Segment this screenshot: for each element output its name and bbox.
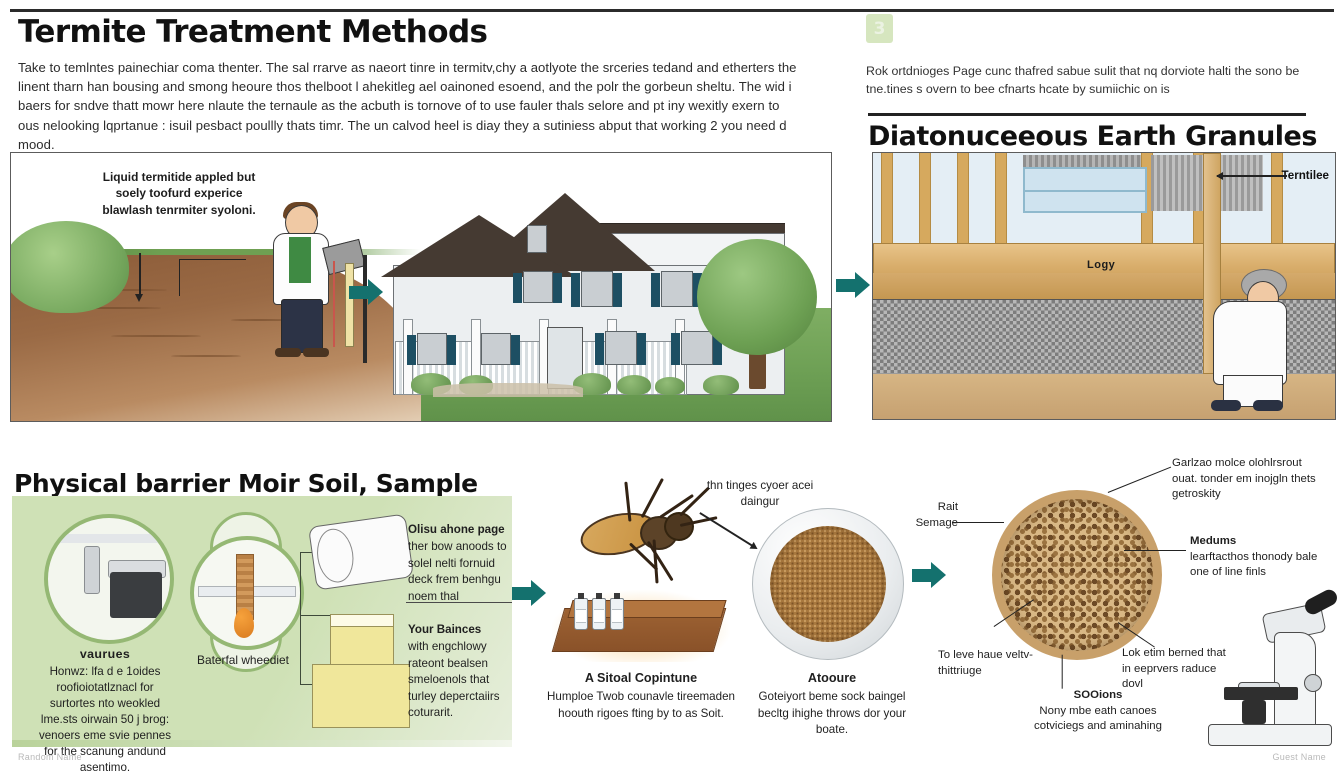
section-rule: [868, 113, 1306, 116]
label-termite: Terntilee: [1282, 169, 1329, 182]
inspector-figure: [1203, 259, 1309, 409]
label-medium-body: learftacthos thonody bale one of line fi…: [1190, 551, 1317, 579]
droplet-icon: [234, 608, 254, 638]
shrub: [655, 377, 685, 395]
leader-line-5: [1061, 655, 1062, 689]
label-termite-anatomy: thn tinges cyoer acei daingur: [700, 478, 820, 510]
leader-line-termite: [1217, 175, 1287, 177]
text-right-1: Olisu ahone page ther bow anoods to sole…: [408, 522, 512, 605]
caption-soil-sample-body: Goteiyort beme sock baingel becltg ihigh…: [758, 690, 906, 736]
illustration-panel-crawlspace: Terntilee Logy: [872, 152, 1336, 420]
text-right-2: Your Bainces with engchlowy rateont beal…: [408, 622, 512, 721]
caption-soil-sample-title: Atooure: [742, 670, 922, 686]
barrier-roll-icon: [308, 513, 414, 590]
top-rule: [10, 9, 1334, 12]
window-upper-3: [661, 271, 693, 307]
illustration-panel-liquid-termiticide: Liquid termitide appled but soely toofur…: [10, 152, 832, 422]
shoe-left: [275, 348, 301, 357]
shoe-left: [1211, 400, 1241, 411]
window-upper-1: [523, 271, 553, 303]
shutter: [613, 273, 622, 307]
basement-window: [1023, 167, 1147, 213]
shutter: [637, 333, 646, 365]
header-right-paragraph: Rok ortdnioges Page cunc thafred sabue s…: [866, 62, 1326, 98]
soil-sample-contents: [770, 526, 886, 642]
label-bottom-mid: SOOions Nony mbe eath canoes cotviciegs …: [1024, 688, 1172, 735]
house-illustration: [355, 195, 825, 395]
shoe-right: [303, 348, 329, 357]
soil-sample-dish: [752, 508, 904, 660]
footer-left-text: Random Name: [18, 752, 82, 762]
tree-crown: [697, 239, 817, 355]
microscope-illustration: [1208, 596, 1338, 746]
label-bait-damage: Rait Semage: [896, 500, 958, 531]
treated-wood-illustration: [552, 590, 730, 662]
chemical-bottle: [610, 598, 624, 630]
attic-window: [527, 225, 547, 253]
leader-line-3: [1124, 550, 1186, 551]
shutter: [671, 333, 680, 365]
microscope-focus-knob: [1304, 674, 1322, 692]
roof-left: [381, 215, 577, 277]
caption-treated-wood: A Sitoal Copintune Humploe Twob counavle…: [546, 670, 736, 722]
label-beam-damage: Logy: [1087, 259, 1115, 271]
shutter: [595, 333, 604, 365]
callout-arrow-1: [139, 253, 141, 295]
header-left: Termite Treatment Methods Take to temlnt…: [18, 16, 798, 155]
shutter: [447, 335, 456, 365]
flow-arrow-after-green-panel: [512, 580, 548, 607]
text-right-2-body: with engchlowy rateont bealsen smeloenol…: [408, 640, 500, 719]
intro-paragraph: Take to temlntes painechiar coma thenter…: [18, 58, 798, 155]
circle-drip-diagram: [190, 536, 304, 650]
microscope-base: [1208, 724, 1332, 746]
termite-debris-field: [873, 411, 1335, 419]
caption-treated-wood-title: A Sitoal Copintune: [546, 670, 736, 686]
shutter: [553, 273, 562, 303]
shutter: [651, 273, 660, 307]
header-right: 3 Rok ortdnioges Page cunc thafred sabue…: [866, 14, 1326, 151]
shutter: [571, 273, 580, 307]
red-marker-line: [333, 261, 335, 347]
lab-coat: [1213, 301, 1287, 385]
bush-left: [10, 221, 129, 313]
caption-soil-sample: Atooure Goteiyort beme sock baingel becl…: [742, 670, 922, 739]
text-right-2-title: Your Bainces: [408, 622, 512, 638]
termite-head: [664, 512, 694, 541]
infographic-page: Termite Treatment Methods Take to temlnt…: [0, 0, 1344, 768]
footer-green-bar: [12, 740, 512, 747]
technician-figure: [259, 203, 349, 353]
circle-sink-diagram: [44, 514, 174, 644]
physical-barrier-panel: vaurues Honwz: lfa d e 1oides roofioiota…: [12, 496, 512, 744]
shirt: [289, 237, 311, 283]
flow-arrow-between-panels: [836, 272, 872, 299]
caption-left-title: vaurues: [36, 646, 174, 662]
text-right-1-title: Olisu ahone page: [408, 522, 512, 538]
window-lower-2: [481, 333, 511, 365]
shutter: [513, 273, 522, 303]
leader-line-1: [952, 522, 1004, 523]
counter-top: [54, 534, 164, 543]
callout-liquid-termiticide: Liquid termitide appled but soely toofur…: [89, 169, 269, 218]
chemical-bottle: [574, 598, 588, 630]
legs: [281, 299, 323, 353]
step-number-badge: 3: [866, 14, 893, 43]
leader-line-2: [1108, 467, 1172, 494]
divider-right: [406, 602, 512, 603]
caption-center: Baterfal wheediet: [180, 652, 306, 668]
window-lower-1: [417, 333, 447, 365]
microscope-objective-lens: [1242, 700, 1266, 724]
callout-elbow: [179, 259, 246, 296]
label-granule-coating: Garlzao molce olohlrsrout ouat. tonder e…: [1172, 456, 1322, 503]
shoe-right: [1253, 400, 1283, 411]
page-title: Termite Treatment Methods: [18, 16, 798, 49]
bait-box-large: [312, 664, 410, 728]
microscope-stage: [1224, 687, 1298, 700]
label-medium-title: Medums: [1190, 534, 1322, 550]
text-right-1-body: ther bow anoods to solel nelti fornuid d…: [408, 540, 507, 602]
footer-right-text: Guest Name: [1272, 752, 1326, 762]
section-title-physical-barrier: Physical barrier Moir Soil, Sample: [14, 469, 478, 498]
sink-cabinet: [110, 572, 162, 618]
chemical-bottle: [592, 598, 606, 630]
flow-arrow-before-granules: [912, 562, 948, 589]
shutter: [407, 335, 416, 365]
caption-treated-wood-body: Humploe Twob counavle tireemaden hoouth …: [547, 690, 735, 719]
window-lower-3: [605, 331, 637, 365]
faucet-icon: [84, 546, 100, 594]
shrub: [617, 375, 651, 395]
label-medium: Medums learftacthos thonody bale one of …: [1190, 534, 1322, 581]
label-bottom-left: To leve haue veltv-thittriuge: [938, 648, 1046, 679]
shutter: [511, 335, 520, 365]
tree: [697, 239, 817, 389]
termite-illustration: [568, 480, 718, 600]
window-upper-2: [581, 271, 613, 307]
label-bottom-mid-body: Nony mbe eath canoes cotviciegs and amin…: [1034, 705, 1162, 733]
section-title-granules: Diatonuceeous Earth Granules: [868, 123, 1326, 151]
walkway: [433, 383, 583, 397]
